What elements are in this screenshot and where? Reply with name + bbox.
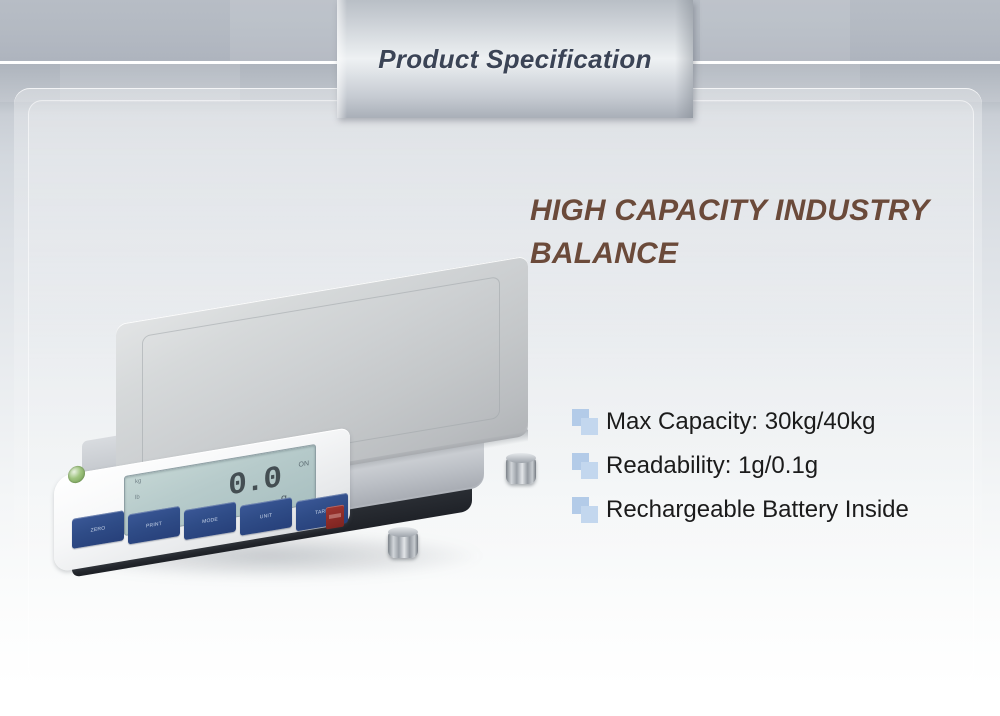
product-image: kg lb ON 0.0 g ZERO PRINT MODE UNIT TARE xyxy=(20,270,600,610)
product-specification-slide: Product Specification HIGH CAPACITY INDU… xyxy=(0,0,1000,716)
leveling-foot xyxy=(506,458,536,484)
spec-list: Max Capacity: 30kg/40kg Readability: 1g/… xyxy=(572,400,982,532)
list-item: Max Capacity: 30kg/40kg xyxy=(572,400,982,444)
key-label: MODE xyxy=(202,517,218,526)
page-title: HIGH CAPACITY INDUSTRY BALANCE xyxy=(530,190,960,275)
list-item: Rechargeable Battery Inside xyxy=(572,488,982,532)
leveling-foot xyxy=(388,532,418,558)
lcd-indicator-lb: lb xyxy=(135,494,140,501)
lcd-indicator-kg: kg xyxy=(135,478,141,485)
key-label: ZERO xyxy=(91,525,106,533)
key-mode[interactable]: MODE xyxy=(184,501,236,540)
spec-label: Max Capacity: 30kg/40kg xyxy=(606,409,875,435)
power-button[interactable] xyxy=(326,504,344,529)
key-print[interactable]: PRINT xyxy=(128,506,180,545)
banner-title: Product Specification xyxy=(337,0,693,118)
header-banner: Product Specification xyxy=(337,0,693,118)
spec-label: Rechargeable Battery Inside xyxy=(606,497,909,523)
list-item: Readability: 1g/0.1g xyxy=(572,444,982,488)
spec-label: Readability: 1g/0.1g xyxy=(606,453,818,479)
lcd-indicator-on: ON xyxy=(299,460,310,469)
key-label: UNIT xyxy=(260,512,272,520)
key-label: PRINT xyxy=(146,521,162,530)
